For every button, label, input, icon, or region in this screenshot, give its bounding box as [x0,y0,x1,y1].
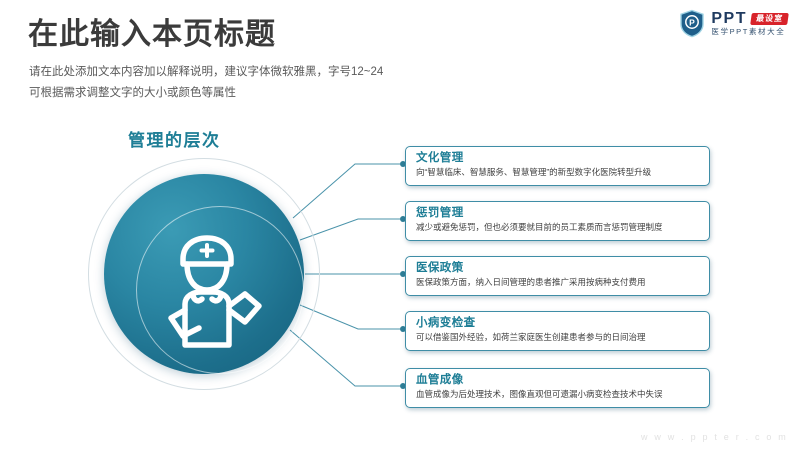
item-title: 惩罚管理 [416,206,701,220]
item-desc: 可以借鉴国外经验，如荷兰家庭医生创建患者参与的日间治理 [416,332,701,343]
logo-text-block: PPT 最设室 医学PPT素材大全 [711,11,788,36]
item-desc: 减少或避免惩罚，但也必须要就目前的员工素质而言惩罚管理制度 [416,222,701,233]
brand-logo: P PPT 最设室 医学PPT素材大全 [679,9,788,38]
item-box-1[interactable]: 文化管理 向“智慧临床、智慧服务、智慧管理”的新型数字化医院转型升级 [405,146,710,186]
item-title: 血管成像 [416,373,701,387]
subtitle-line-2: 可根据需求调整文字的大小或颜色等属性 [29,85,236,102]
svg-text:P: P [690,17,696,27]
page-title: 在此输入本页标题 [28,18,276,53]
item-title: 小病变检查 [416,316,701,330]
watermark: w w w . p p t e r . c o m [641,432,788,442]
item-title: 医保政策 [416,261,701,275]
shield-icon: P [679,9,705,38]
logo-name-row: PPT 最设室 [711,11,788,27]
logo-badge: 最设室 [750,13,789,25]
item-box-2[interactable]: 惩罚管理 减少或避免惩罚，但也必须要就目前的员工素质而言惩罚管理制度 [405,201,710,241]
item-box-5[interactable]: 血管成像 血管成像为后处理技术，图像直观但可遗漏小病变检查技术中失误 [405,368,710,408]
logo-name: PPT [711,11,747,27]
subtitle-line-1: 请在此处添加文本内容加以解释说明，建议字体微软雅黑，字号12~24 [29,64,383,81]
section-heading: 管理的层次 [128,126,221,151]
slide-canvas: 在此输入本页标题 请在此处添加文本内容加以解释说明，建议字体微软雅黑，字号12~… [0,0,800,450]
center-circle-graphic [88,158,320,390]
circle-disc [104,174,304,374]
item-box-3[interactable]: 医保政策 医保政策方面，纳入日间管理的患者推广采用按病种支付费用 [405,256,710,296]
item-desc: 血管成像为后处理技术，图像直观但可遗漏小病变检查技术中失误 [416,389,701,400]
nurse-icon [159,232,281,350]
logo-tagline: 医学PPT素材大全 [711,28,788,36]
item-desc: 向“智慧临床、智慧服务、智慧管理”的新型数字化医院转型升级 [416,167,701,178]
item-title: 文化管理 [416,151,701,165]
item-desc: 医保政策方面，纳入日间管理的患者推广采用按病种支付费用 [416,277,701,288]
item-box-4[interactable]: 小病变检查 可以借鉴国外经验，如荷兰家庭医生创建患者参与的日间治理 [405,311,710,351]
